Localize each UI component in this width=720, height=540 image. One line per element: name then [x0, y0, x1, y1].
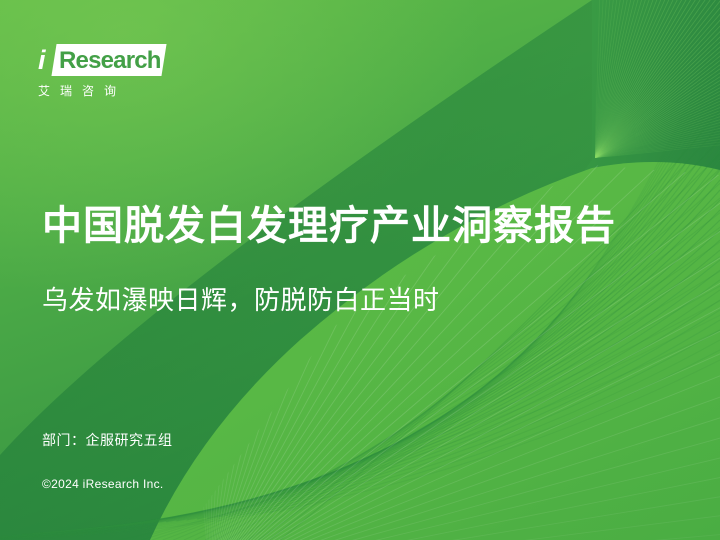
report-subtitle: 乌发如瀑映日辉，防脱防白正当时: [42, 283, 440, 317]
logo-wordmark: Research: [59, 46, 161, 75]
report-title: 中国脱发白发理疗产业洞察报告: [42, 202, 616, 250]
department-label: 部门：企服研究五组: [42, 430, 173, 450]
logo-letter-i: i: [38, 45, 45, 75]
logo-chinese-name: 艾瑞咨询: [38, 82, 126, 99]
report-cover-slide: i Research 艾瑞咨询 中国脱发白发理疗产业洞察报告 乌发如瀑映日辉，防…: [0, 0, 720, 540]
copyright-notice: ©2024 iResearch Inc.: [42, 477, 164, 491]
logo-mark: i Research: [36, 44, 164, 78]
iresearch-logo: i Research 艾瑞咨询: [36, 44, 186, 110]
